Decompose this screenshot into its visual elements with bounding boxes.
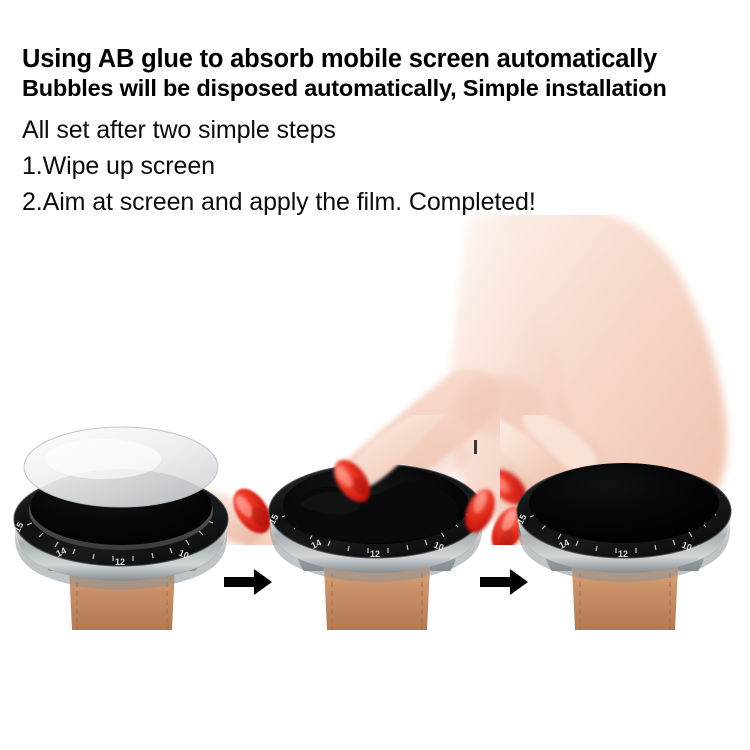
arrow-step-1-to-2 (222, 567, 274, 597)
watch-step-sequence: 15 14 12 10 (0, 415, 750, 630)
headline-secondary: Bubbles will be disposed automatically, … (22, 74, 736, 103)
body-line-step-1: 1.Wipe up screen (22, 148, 736, 184)
watch-step-3: 15 14 12 10 (500, 415, 750, 630)
watch-step-1: 15 14 12 10 (0, 415, 247, 630)
svg-text:12: 12 (370, 549, 380, 559)
watch-step-2: 15 14 12 10 (252, 415, 502, 630)
screen-protector-film (24, 427, 218, 507)
watch-screen (529, 463, 719, 543)
svg-text:12: 12 (618, 549, 628, 559)
headline-primary: Using AB glue to absorb mobile screen au… (22, 44, 736, 74)
svg-text:12: 12 (115, 557, 125, 567)
infographic-canvas: Using AB glue to absorb mobile screen au… (0, 0, 750, 750)
arrow-step-2-to-3 (478, 567, 530, 597)
text-spacer (22, 103, 736, 112)
body-line-intro: All set after two simple steps (22, 112, 736, 148)
instruction-text-block: Using AB glue to absorb mobile screen au… (22, 44, 736, 220)
